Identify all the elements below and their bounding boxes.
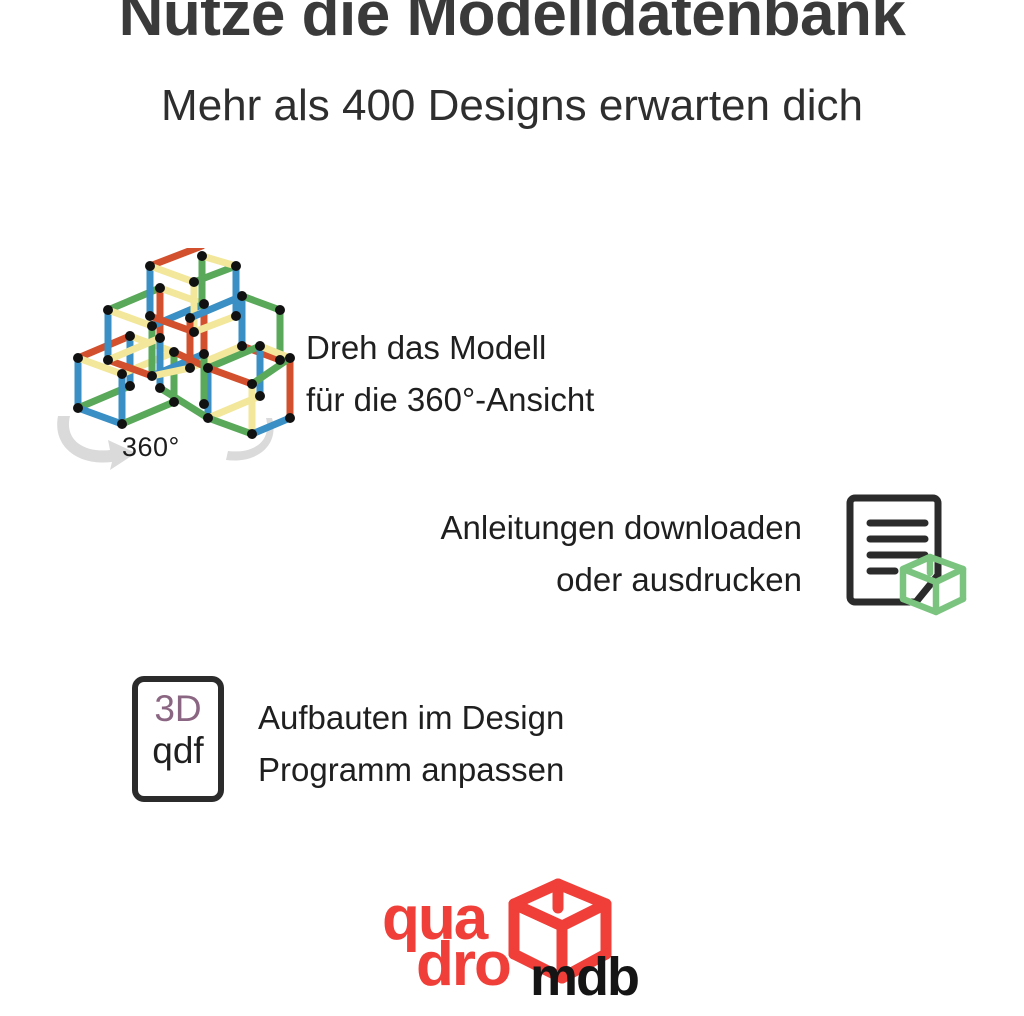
- brand-text-dro: dro: [416, 934, 510, 996]
- file-format-3d-qdf-icon: 3D qdf: [132, 676, 224, 802]
- rotation-degree-badge: 360°: [122, 432, 180, 463]
- feature-rotate-line2: für die 360°-Ansicht: [306, 374, 594, 426]
- feature-download-line2: oder ausdrucken: [441, 554, 802, 606]
- page-subtitle: Mehr als 400 Designs erwarten dich: [0, 82, 1024, 130]
- document-page-shape: [850, 498, 938, 602]
- brand-text-mdb: mdb: [530, 950, 638, 1004]
- page-title: Nutze die Modelldatenbank: [0, 0, 1024, 47]
- feature-download-text: Anleitungen downloaden oder ausdrucken: [441, 502, 802, 606]
- qdf-extension-label: qdf: [138, 732, 218, 769]
- qdf-format-label: 3D: [138, 690, 218, 727]
- feature-design-line1: Aufbauten im Design: [258, 692, 564, 744]
- feature-rotate-text: Dreh das Modell für die 360°-Ansicht: [306, 322, 594, 426]
- brand-logo: qua dro mdb: [378, 878, 658, 1013]
- feature-rotate-line1: Dreh das Modell: [306, 322, 594, 374]
- feature-design-line2: Programm anpassen: [258, 744, 564, 796]
- feature-download-line1: Anleitungen downloaden: [441, 502, 802, 554]
- document-with-cube-icon: [843, 487, 969, 617]
- feature-design-text: Aufbauten im Design Programm anpassen: [258, 692, 564, 796]
